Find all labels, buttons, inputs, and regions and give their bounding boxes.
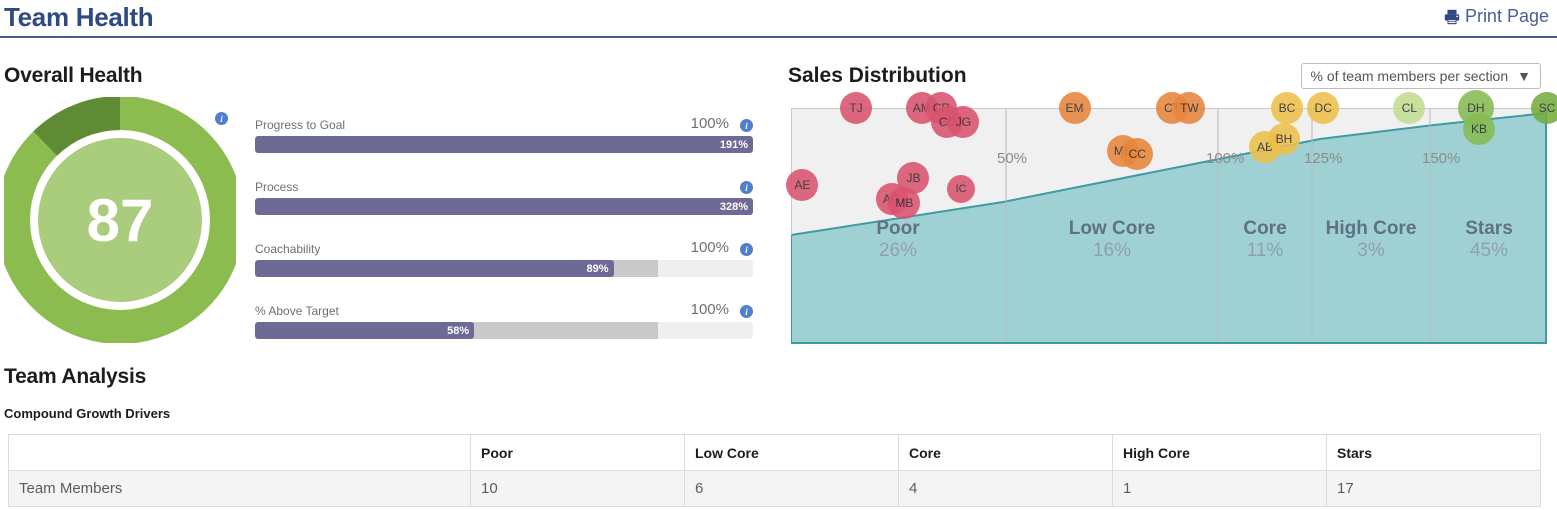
team-analysis-heading: Team Analysis — [4, 365, 146, 389]
data-table: Poor Low Core Core High Core Stars Team … — [8, 434, 1541, 507]
member-bubble[interactable]: CL — [1393, 92, 1425, 124]
sales-distribution-heading: Sales Distribution — [788, 64, 967, 88]
team-health-page: Team Health Print Page Overall Health — [0, 0, 1557, 510]
cell-core: 4 — [899, 471, 1113, 507]
member-bubble[interactable]: JG — [947, 106, 979, 138]
member-bubble[interactable]: CC — [1121, 138, 1153, 170]
metric-fill: 191% — [255, 136, 753, 153]
printer-icon — [1443, 8, 1461, 26]
member-bubble[interactable]: TJ — [840, 92, 872, 124]
metric-label: Process — [255, 180, 298, 194]
info-icon[interactable]: i — [740, 243, 753, 256]
column-header-stars: Stars — [1327, 435, 1541, 471]
select-value: % of team members per section — [1311, 68, 1509, 84]
metric-track: 191% — [255, 136, 753, 153]
member-bubble-layer: AETJAMCRCDJGJBAGMBICEMCTTWMECCBCDCABBHCL… — [791, 108, 1547, 344]
cell-low-core: 6 — [685, 471, 899, 507]
overall-health-gauge: 87 i — [4, 97, 236, 343]
table-row: Team Members 10 6 4 1 17 — [9, 471, 1541, 507]
member-bubble[interactable]: KB — [1463, 113, 1495, 145]
column-header-blank — [9, 435, 471, 471]
metric-value: 191% — [720, 139, 753, 151]
cell-stars: 17 — [1327, 471, 1541, 507]
row-label: Team Members — [9, 471, 471, 507]
metric-track: 58% — [255, 322, 753, 339]
metric-label: Progress to Goal — [255, 118, 345, 132]
chevron-down-icon: ▼ — [1517, 68, 1531, 84]
metric-fill: 58% — [255, 322, 474, 339]
info-icon[interactable]: i — [740, 181, 753, 194]
cell-high-core: 1 — [1113, 471, 1327, 507]
overall-health-heading: Overall Health — [4, 64, 142, 88]
member-bubble[interactable]: DC — [1307, 92, 1339, 124]
member-bubble[interactable]: IC — [947, 175, 975, 203]
team-analysis-subheading: Compound Growth Drivers — [4, 406, 170, 421]
print-page-button[interactable]: Print Page — [1443, 6, 1549, 27]
metric-fill: 89% — [255, 260, 614, 277]
page-title: Team Health — [4, 2, 153, 33]
metric-label: Coachability — [255, 242, 320, 256]
member-bubble[interactable]: TW — [1173, 92, 1205, 124]
gauge-value: 87 — [4, 97, 236, 343]
metric-row-above-target: % Above Target 100% i 58% — [255, 304, 753, 366]
member-bubble[interactable]: MB — [888, 187, 920, 219]
sales-distribution-chart: 50% 100% 125% 150% Poor 26% Low Core 16%… — [791, 108, 1547, 344]
metric-max: 100% — [691, 301, 729, 318]
info-icon[interactable]: i — [740, 305, 753, 318]
member-bubble[interactable]: AE — [786, 169, 818, 201]
metric-value: 58% — [447, 325, 474, 337]
metric-max: 100% — [691, 239, 729, 256]
health-metric-bars: Progress to Goal 100% i 191% Process i 3… — [255, 118, 753, 366]
print-page-label: Print Page — [1465, 6, 1549, 27]
table-header-row: Poor Low Core Core High Core Stars — [9, 435, 1541, 471]
page-header: Team Health Print Page — [0, 0, 1557, 38]
metric-max: 100% — [691, 115, 729, 132]
member-bubble[interactable]: BC — [1271, 92, 1303, 124]
cell-poor: 10 — [471, 471, 685, 507]
metric-fill: 328% — [255, 198, 753, 215]
metric-row-process: Process i 328% — [255, 180, 753, 242]
info-icon[interactable]: i — [215, 112, 228, 125]
compound-growth-drivers-table: Poor Low Core Core High Core Stars Team … — [8, 434, 1541, 507]
sales-distribution-panel: Sales Distribution % of team members per… — [780, 60, 1557, 350]
member-bubble[interactable]: SC — [1531, 92, 1557, 124]
metric-value: 89% — [587, 263, 614, 275]
column-header-high-core: High Core — [1113, 435, 1327, 471]
member-bubble[interactable]: EM — [1059, 92, 1091, 124]
metric-row-coachability: Coachability 100% i 89% — [255, 242, 753, 304]
column-header-core: Core — [899, 435, 1113, 471]
metric-label: % Above Target — [255, 304, 339, 318]
column-header-low-core: Low Core — [685, 435, 899, 471]
column-header-poor: Poor — [471, 435, 685, 471]
metric-track: 328% — [255, 198, 753, 215]
member-bubble[interactable]: BH — [1268, 123, 1300, 155]
metric-row-progress-to-goal: Progress to Goal 100% i 191% — [255, 118, 753, 180]
info-icon[interactable]: i — [740, 119, 753, 132]
metric-track: 89% — [255, 260, 753, 277]
metric-value: 328% — [720, 201, 753, 213]
sales-distribution-metric-select[interactable]: % of team members per section ▼ — [1301, 63, 1542, 89]
